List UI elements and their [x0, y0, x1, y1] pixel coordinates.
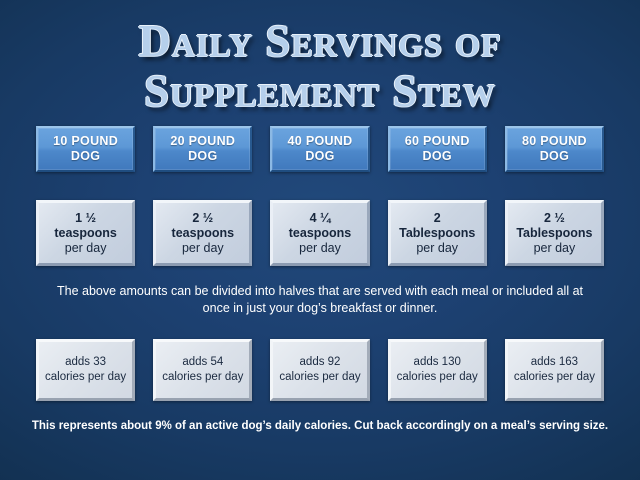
serving-amount: 2 ½ [544, 211, 565, 226]
calorie-cell-20-pound-dog: adds 54 calories per day [153, 339, 252, 401]
header-dog-label: Dog [71, 149, 100, 164]
header-dog-label: Dog [188, 149, 217, 164]
serving-amount: 4 ¼ [310, 211, 331, 226]
serving-frequency: per day [416, 241, 458, 256]
calorie-cell-10-pound-dog: adds 33 calories per day [36, 339, 135, 401]
calorie-amount: adds 130 [414, 355, 461, 370]
header-weight-label: 60 Pound [405, 134, 470, 149]
header-dog-label: Dog [305, 149, 334, 164]
note-middle: The above amounts can be divided into ha… [0, 283, 640, 317]
serving-unit: teaspoons [289, 226, 352, 241]
calorie-cell-60-pound-dog: adds 130 calories per day [388, 339, 487, 401]
serving-unit: teaspoons [172, 226, 235, 241]
title-line-2: Supplement Stew [0, 66, 640, 116]
serving-cell-80-pound-dog: 2 ½ Tablespoons per day [505, 200, 604, 266]
calorie-unit: calories per day [162, 370, 243, 385]
calorie-cell-40-pound-dog: adds 92 calories per day [270, 339, 369, 401]
column-header-60-pound-dog: 60 Pound Dog [388, 126, 487, 172]
page-title: Daily Servings of Supplement Stew [0, 0, 640, 116]
header-weight-label: 80 Pound [522, 134, 587, 149]
column-header-10-pound-dog: 10 Pound Dog [36, 126, 135, 172]
serving-unit: teaspoons [54, 226, 117, 241]
calorie-amount: adds 163 [531, 355, 578, 370]
header-row: 10 Pound Dog 20 Pound Dog 40 Pound Dog 6… [0, 126, 640, 172]
serving-cell-60-pound-dog: 2 Tablespoons per day [388, 200, 487, 266]
header-weight-label: 10 Pound [53, 134, 118, 149]
column-header-40-pound-dog: 40 Pound Dog [270, 126, 369, 172]
header-dog-label: Dog [540, 149, 569, 164]
header-dog-label: Dog [423, 149, 452, 164]
serving-frequency: per day [182, 241, 224, 256]
serving-cell-10-pound-dog: 1 ½ teaspoons per day [36, 200, 135, 266]
column-header-80-pound-dog: 80 Pound Dog [505, 126, 604, 172]
serving-unit: Tablespoons [516, 226, 592, 241]
note-bottom: This represents about 9% of an active do… [0, 419, 640, 434]
calorie-row: adds 33 calories per day adds 54 calorie… [0, 339, 640, 401]
calorie-unit: calories per day [45, 370, 126, 385]
serving-amount: 2 ½ [192, 211, 213, 226]
header-weight-label: 40 Pound [288, 134, 353, 149]
serving-cell-20-pound-dog: 2 ½ teaspoons per day [153, 200, 252, 266]
serving-frequency: per day [65, 241, 107, 256]
calorie-unit: calories per day [397, 370, 478, 385]
serving-amount-row: 1 ½ teaspoons per day 2 ½ teaspoons per … [0, 200, 640, 266]
serving-amount: 1 ½ [75, 211, 96, 226]
calorie-unit: calories per day [514, 370, 595, 385]
calorie-unit: calories per day [279, 370, 360, 385]
calorie-cell-80-pound-dog: adds 163 calories per day [505, 339, 604, 401]
calorie-amount: adds 33 [65, 355, 106, 370]
serving-unit: Tablespoons [399, 226, 475, 241]
serving-cell-40-pound-dog: 4 ¼ teaspoons per day [270, 200, 369, 266]
column-header-20-pound-dog: 20 Pound Dog [153, 126, 252, 172]
title-line-1: Daily Servings of [0, 16, 640, 66]
serving-frequency: per day [299, 241, 341, 256]
poster-canvas: Daily Servings of Supplement Stew 10 Pou… [0, 0, 640, 480]
calorie-amount: adds 92 [300, 355, 341, 370]
calorie-amount: adds 54 [182, 355, 223, 370]
serving-amount: 2 [434, 211, 441, 226]
serving-frequency: per day [534, 241, 576, 256]
header-weight-label: 20 Pound [170, 134, 235, 149]
